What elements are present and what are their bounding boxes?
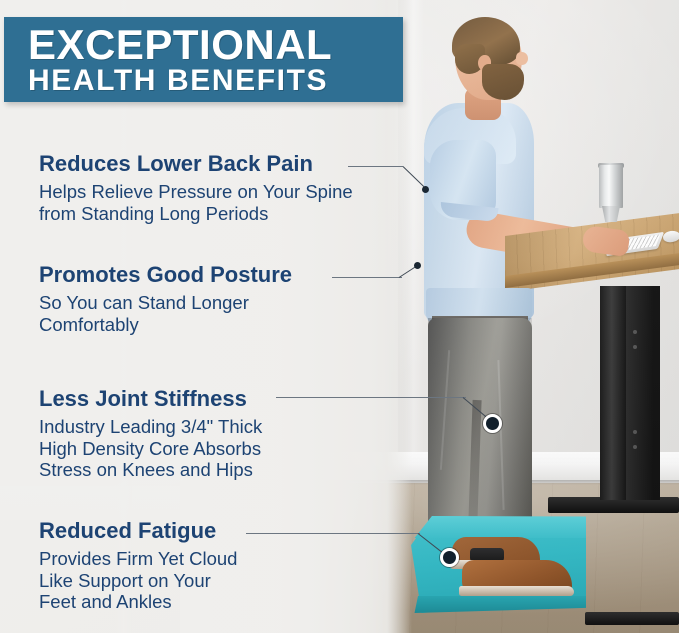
callout-line: Stress on Knees and Hips (39, 459, 262, 481)
callout-promotes-good-posture: Promotes Good Posture So You can Stand L… (39, 262, 292, 335)
leader-line-knee (276, 397, 466, 398)
callout-title: Promotes Good Posture (39, 262, 292, 288)
leader-line-posture (332, 277, 402, 278)
callout-line: Helps Relieve Pressure on Your Spine (39, 181, 353, 203)
desk-foot-front (585, 612, 679, 625)
desk-bolt (633, 430, 637, 434)
callout-less-joint-stiffness: Less Joint Stiffness Industry Leading 3/… (39, 386, 262, 481)
anti-fatigue-mat-surface (411, 516, 586, 538)
back-marker (422, 186, 429, 193)
callout-line: Feet and Ankles (39, 591, 237, 613)
headline-line-1: EXCEPTIONAL (28, 23, 332, 67)
beard (482, 64, 524, 100)
shoe-front-sole (459, 586, 574, 596)
callout-line: Comfortably (39, 314, 292, 336)
trouser-shading (428, 318, 532, 550)
desk-leg-column-rear (626, 286, 660, 500)
callout-title: Reduced Fatigue (39, 518, 237, 544)
nose (516, 52, 528, 65)
infographic-page: EXCEPTIONAL HEALTH BENEFITS Reduces Lowe… (0, 0, 679, 633)
callout-line: So You can Stand Longer (39, 292, 292, 314)
callout-line: from Standing Long Periods (39, 203, 353, 225)
callout-line: Like Support on Your (39, 570, 237, 592)
desk-leg-column (600, 286, 626, 500)
callout-line: Provides Firm Yet Cloud (39, 548, 237, 570)
callout-reduced-fatigue: Reduced Fatigue Provides Firm Yet Cloud … (39, 518, 237, 613)
desk-bolt (633, 345, 637, 349)
leader-line-fatigue (246, 533, 420, 534)
callout-reduces-lower-back-pain: Reduces Lower Back Pain Helps Relieve Pr… (39, 151, 353, 224)
desk-bolt (633, 445, 637, 449)
knee-marker (483, 414, 502, 433)
posture-marker (414, 262, 421, 269)
leader-line-back (348, 166, 403, 167)
callout-title: Less Joint Stiffness (39, 386, 262, 412)
desk-bolt (633, 330, 637, 334)
callout-line: High Density Core Absorbs (39, 438, 262, 460)
headline-line-2: HEALTH BENEFITS (28, 65, 328, 97)
callout-title: Reduces Lower Back Pain (39, 151, 353, 177)
mat-marker (440, 548, 459, 567)
callout-line: Industry Leading 3/4" Thick (39, 416, 262, 438)
tumbler (599, 165, 623, 208)
headline-banner: EXCEPTIONAL HEALTH BENEFITS (4, 17, 403, 102)
